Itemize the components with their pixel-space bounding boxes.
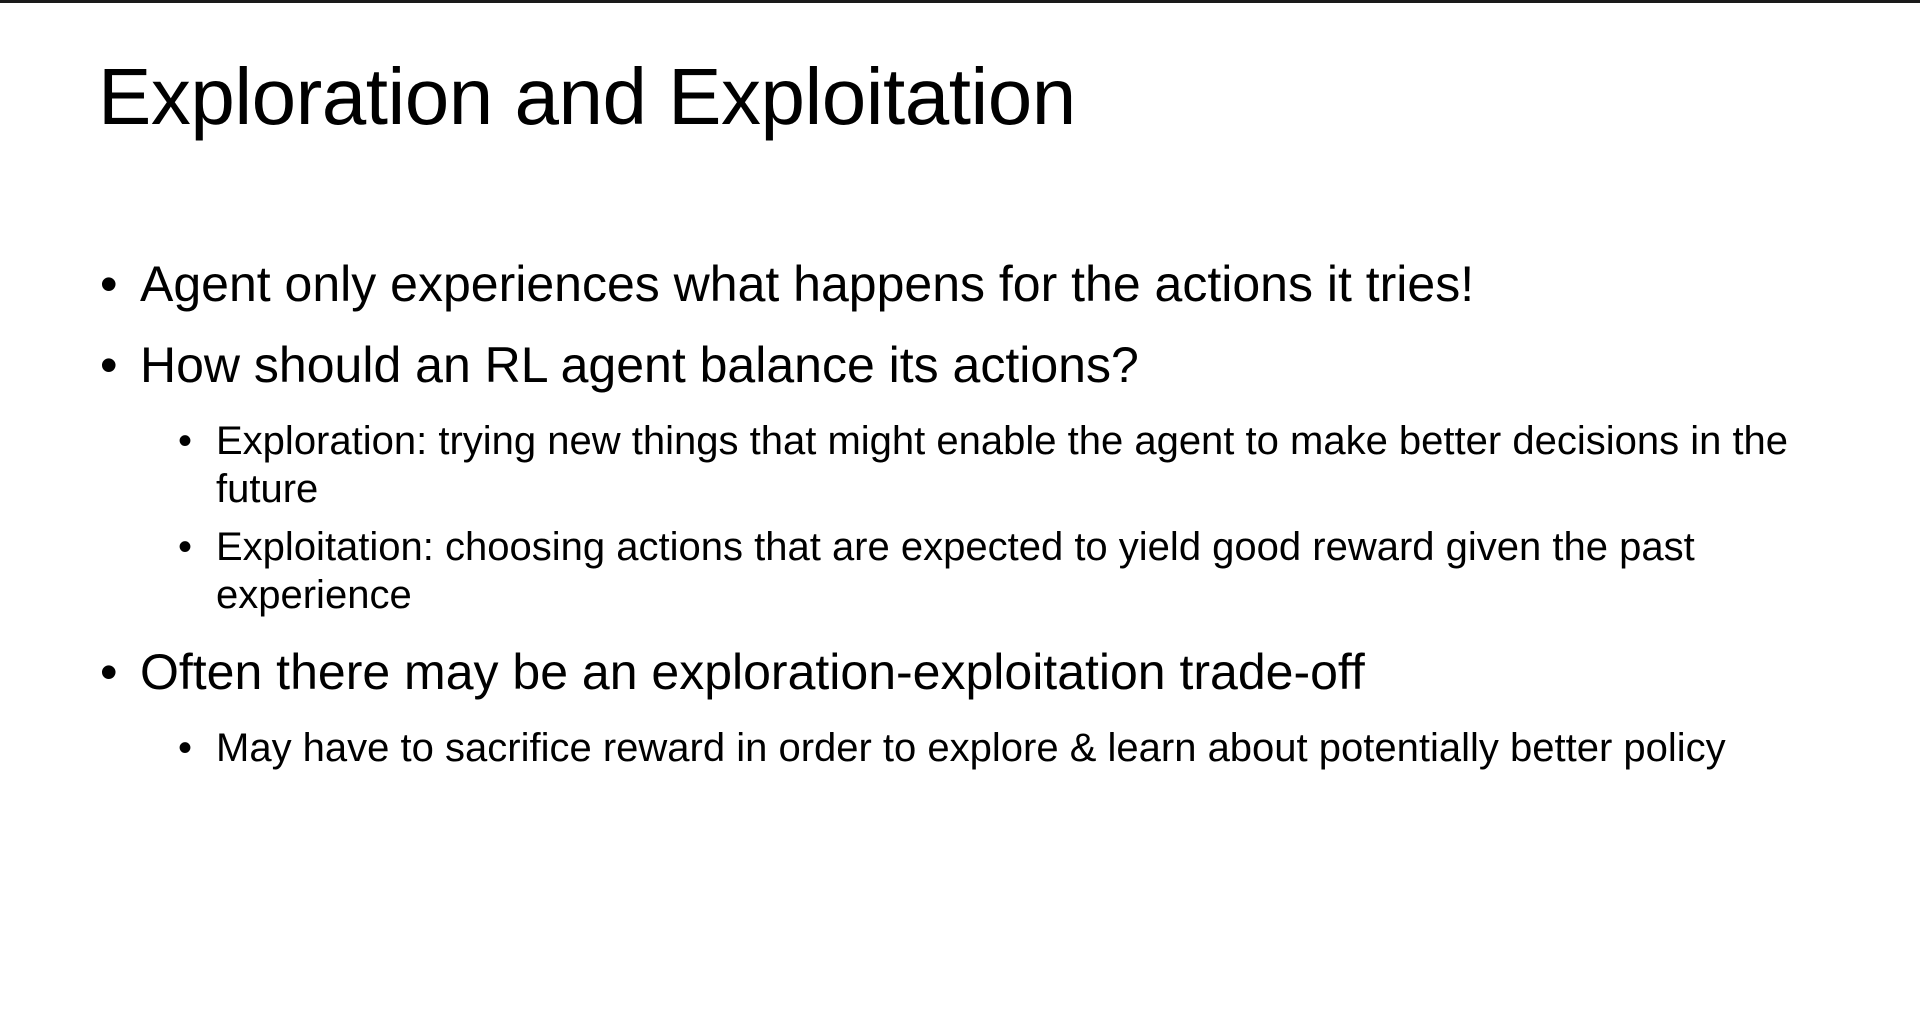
sub-bullet-group: • Exploration: trying new things that mi… <box>0 417 1920 619</box>
bullet-dot-icon: • <box>178 724 198 772</box>
bullet-dot-icon: • <box>178 417 198 465</box>
sub-bullet-group: • May have to sacrifice reward in order … <box>0 724 1920 772</box>
bullet-level1-item: • How should an RL agent balance its act… <box>0 336 1920 395</box>
bullet-level2-text: May have to sacrifice reward in order to… <box>216 724 1821 772</box>
bullet-level1-item: • Often there may be an exploration-expl… <box>0 643 1920 702</box>
bullet-level1-text: Agent only experiences what happens for … <box>140 255 1920 314</box>
bullet-level1-text: How should an RL agent balance its actio… <box>140 336 1920 395</box>
bullet-dot-icon: • <box>100 336 122 395</box>
bullet-dot-icon: • <box>100 255 122 314</box>
bullet-dot-icon: • <box>100 643 122 702</box>
slide-body: • Agent only experiences what happens fo… <box>0 255 1920 782</box>
bullet-level1-item: • Agent only experiences what happens fo… <box>0 255 1920 314</box>
bullet-level2-item: • Exploration: trying new things that mi… <box>0 417 1920 513</box>
bullet-level1-text: Often there may be an exploration-exploi… <box>140 643 1920 702</box>
bullet-level2-text: Exploitation: choosing actions that are … <box>216 523 1821 619</box>
presentation-slide: Exploration and Exploitation • Agent onl… <box>0 0 1920 1026</box>
bullet-level2-text: Exploration: trying new things that migh… <box>216 417 1821 513</box>
slide-title: Exploration and Exploitation <box>98 55 1818 139</box>
bullet-dot-icon: • <box>178 523 198 571</box>
bullet-level2-item: • May have to sacrifice reward in order … <box>0 724 1920 772</box>
bullet-level2-item: • Exploitation: choosing actions that ar… <box>0 523 1920 619</box>
